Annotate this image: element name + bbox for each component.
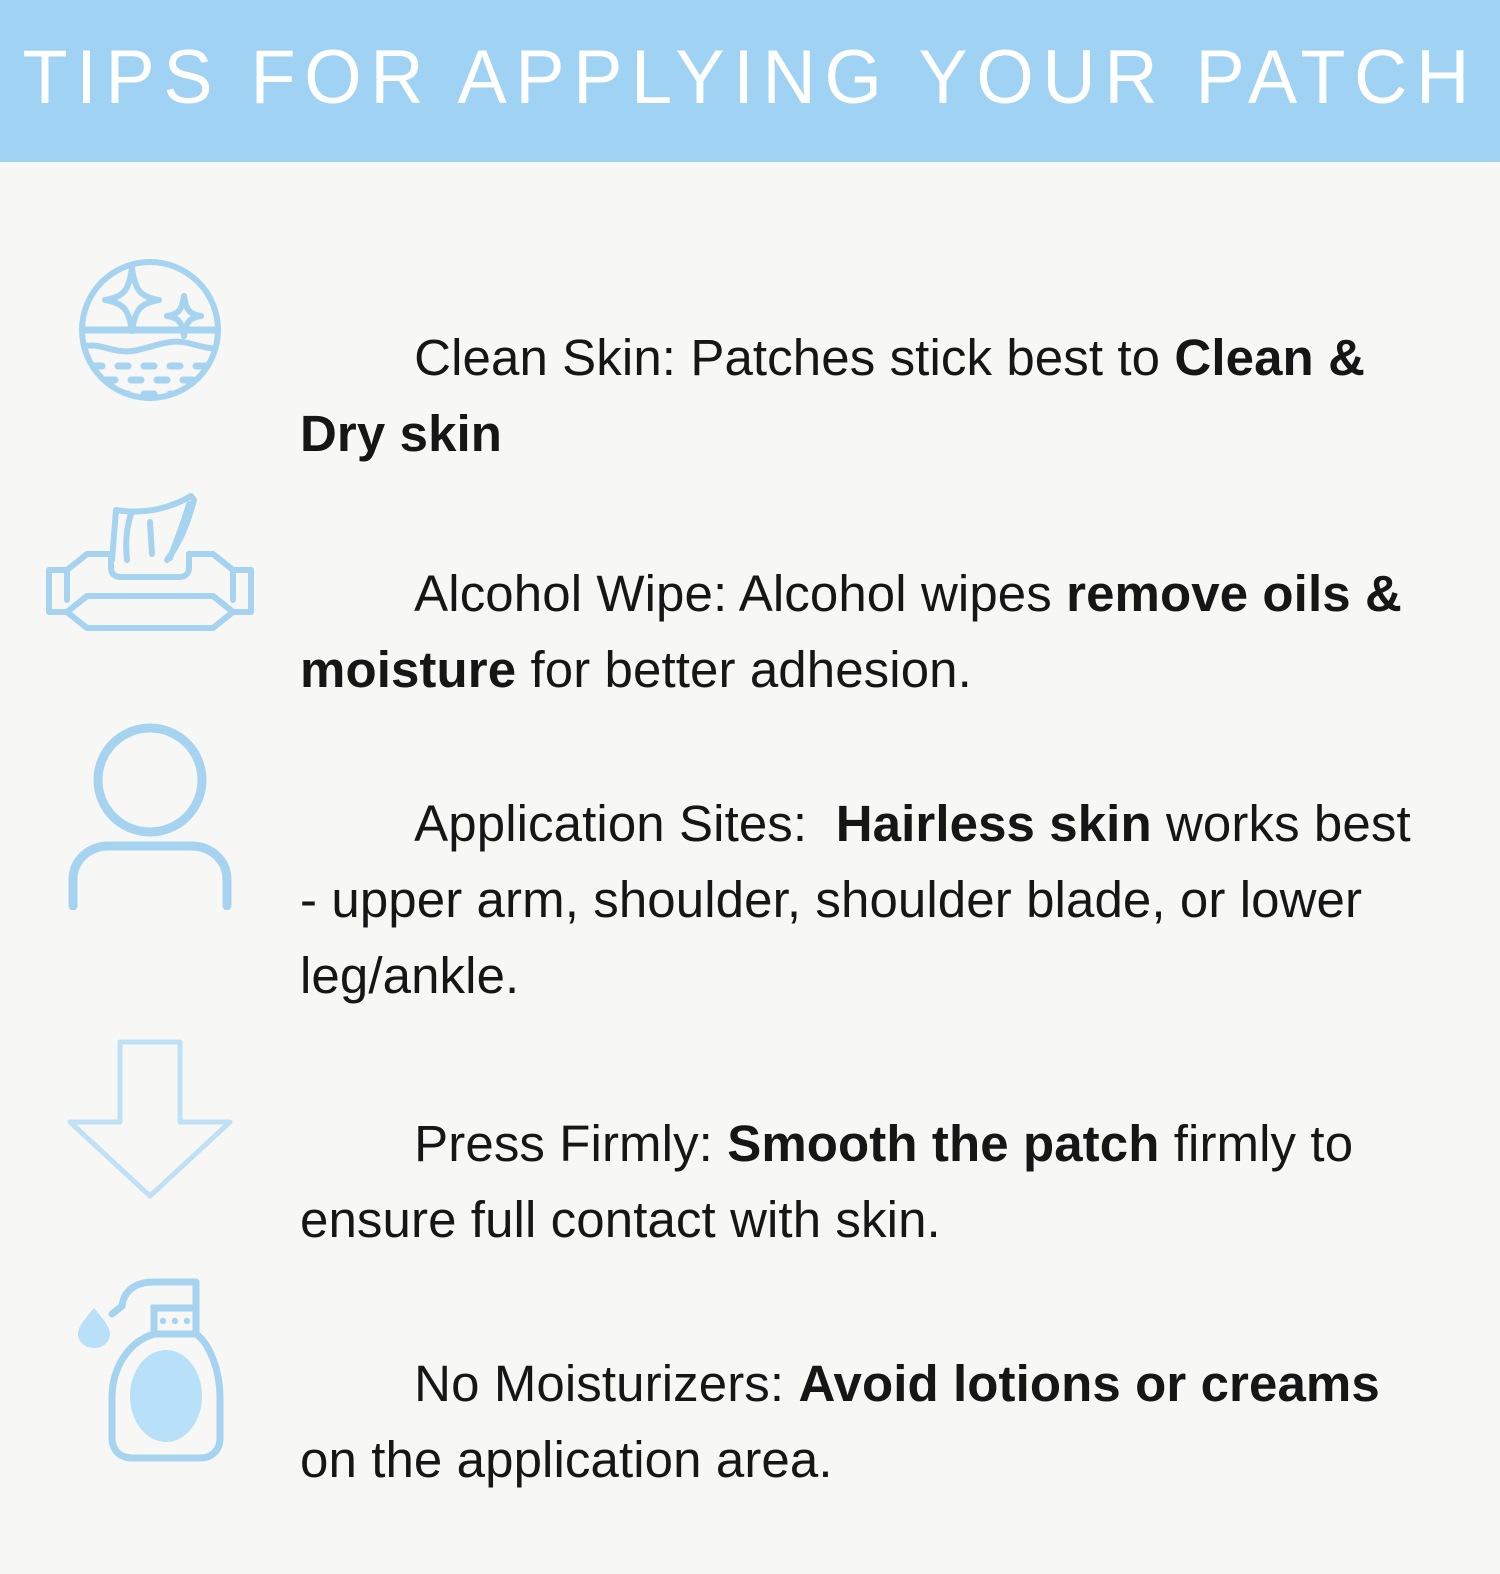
person-icon — [0, 710, 300, 910]
lotion-bottle-icon — [0, 1270, 300, 1467]
page-title: Tips For Applying Your Patch — [22, 40, 1478, 116]
alcohol-wipe-icon — [0, 480, 300, 638]
clean-skin-icon — [0, 244, 300, 410]
tip-lead-text: Application Sites: — [414, 795, 836, 852]
tip-lead-text: Press Firmly: — [414, 1115, 727, 1172]
tip-text-no-moisturizers: No Moisturizers: Avoid lotions or creams… — [300, 1270, 1430, 1574]
tip-bold-text: Hairless skin — [836, 795, 1152, 852]
tip-bold-text: Smooth the patch — [727, 1115, 1159, 1172]
tip-lead-text: No Moisturizers: — [414, 1355, 798, 1412]
tips-list: Clean Skin: Patches stick best to Clean … — [0, 162, 1500, 1500]
press-down-arrow-icon — [0, 1030, 300, 1202]
tip-lead-text: Clean Skin: Patches stick best to — [414, 329, 1174, 386]
tip-tail-text: for better adhesion. — [516, 641, 972, 698]
header-banner: Tips For Applying Your Patch — [0, 0, 1500, 162]
tip-item-no-moisturizers: No Moisturizers: Avoid lotions or creams… — [0, 1270, 1430, 1574]
tips-infographic: Tips For Applying Your Patch — [0, 0, 1500, 1500]
tip-bold-text: Avoid lotions or creams — [798, 1355, 1379, 1412]
tip-lead-text: Alcohol Wipe: Alcohol wipes — [414, 565, 1066, 622]
